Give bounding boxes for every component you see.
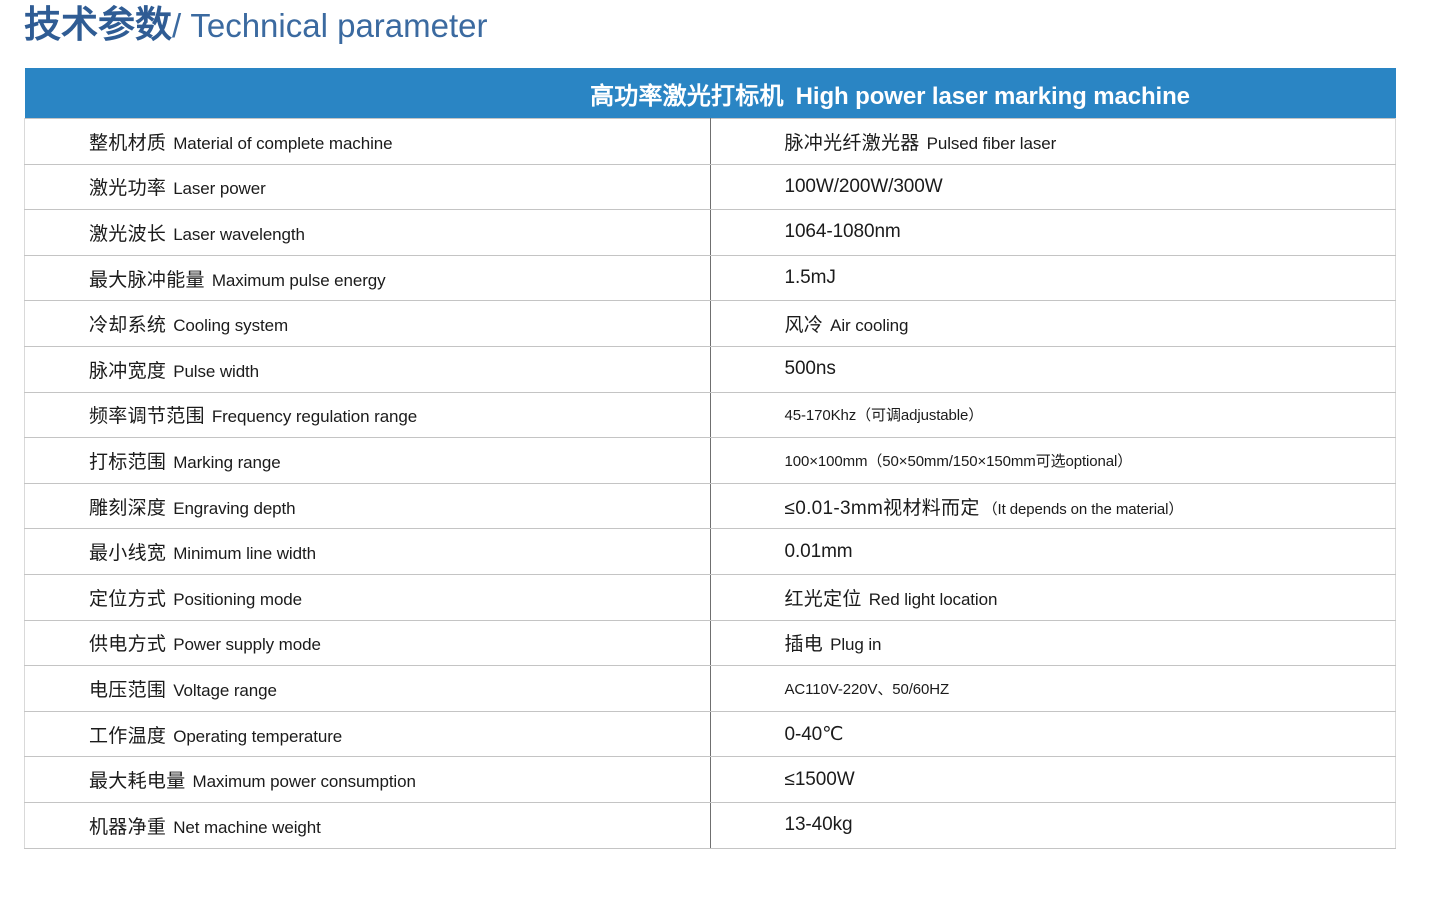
parameter-value-zh: 红光定位 [785,589,862,610]
parameter-label-cell: 频率调节范围Frequency regulation range [25,392,711,438]
parameter-label: 激光功率Laser power [25,173,710,200]
page-title-en: Technical parameter [190,7,487,44]
parameter-value-cell: 风冷Air cooling [710,301,1396,347]
parameter-label-cell: 供电方式Power supply mode [25,620,711,666]
parameter-label-cell: 最小线宽Minimum line width [25,529,711,575]
parameter-label-cell: 定位方式Positioning mode [25,574,711,620]
parameter-value-cell: ≤1500W [710,757,1396,803]
parameter-label-zh: 最小线宽 [89,543,166,564]
parameter-label-cell: 雕刻深度Engraving depth [25,483,711,529]
parameter-value: 1.5mJ [711,267,1396,289]
table-header-title-zh: 高功率激光打标机 [590,83,784,110]
parameter-label: 工作温度Operating temperature [25,721,710,748]
parameter-value-cell: 脉冲光纤激光器Pulsed fiber laser [710,119,1396,165]
parameter-value-cell: AC110V-220V、50/60HZ [710,666,1396,712]
parameter-value-cell: 插电Plug in [710,620,1396,666]
parameter-label-en: Pulse width [166,362,259,381]
parameter-value-text: 0.01mm [785,541,853,562]
parameter-value: 插电Plug in [711,629,1396,656]
parameter-value: 风冷Air cooling [711,310,1396,337]
parameter-value-text: ≤1500W [785,769,855,790]
parameter-label-cell: 激光波长Laser wavelength [25,210,711,256]
page-title-zh: 技术参数 [24,4,172,45]
table-body: 整机材质Material of complete machine脉冲光纤激光器P… [25,119,1396,849]
parameter-label-cell: 冷却系统Cooling system [25,301,711,347]
parameter-value: ≤1500W [711,769,1396,791]
parameter-label-en: Power supply mode [166,635,321,654]
table-row: 雕刻深度Engraving depth≤0.01-3mm视材料而定（It dep… [25,483,1396,529]
table-header-inner: 高功率激光打标机High power laser marking machine [25,76,1396,111]
parameter-label-cell: 最大脉冲能量Maximum pulse energy [25,255,711,301]
parameter-value-cell: 45-170Khz（可调adjustable） [710,392,1396,438]
parameter-label-en: Laser power [166,179,265,198]
table-row: 冷却系统Cooling system风冷Air cooling [25,301,1396,347]
parameter-label: 最小线宽Minimum line width [25,538,710,565]
parameter-label: 激光波长Laser wavelength [25,219,710,246]
parameter-value-cell: 0-40℃ [710,711,1396,757]
parameter-label-zh: 机器净重 [89,817,166,838]
parameter-value: 0-40℃ [711,723,1396,746]
parameter-label-zh: 供电方式 [89,634,166,655]
technical-parameter-table: 高功率激光打标机High power laser marking machine… [24,68,1396,849]
parameter-value: 1064-1080nm [711,221,1396,243]
parameter-value-text: 1064-1080nm [785,221,901,242]
parameter-label-zh: 打标范围 [89,452,166,473]
parameter-value-cell: 1.5mJ [710,255,1396,301]
parameter-label-en: Cooling system [166,316,288,335]
parameter-value: AC110V-220V、50/60HZ [711,678,1396,699]
parameter-label-zh: 最大脉冲能量 [89,270,205,291]
parameter-value-text: 500ns [785,358,836,379]
table-header-title-en: High power laser marking machine [784,83,1190,110]
parameter-label-zh: 冷却系统 [89,315,166,336]
table-row: 工作温度Operating temperature0-40℃ [25,711,1396,757]
table-row: 频率调节范围Frequency regulation range45-170Kh… [25,392,1396,438]
parameter-label-cell: 打标范围Marking range [25,438,711,484]
parameter-value-cell: ≤0.01-3mm视材料而定（It depends on the materia… [710,483,1396,529]
parameter-value-zh: 脉冲光纤激光器 [785,133,920,154]
parameter-value-zh: 风冷 [785,315,824,336]
parameter-value: 脉冲光纤激光器Pulsed fiber laser [711,128,1396,155]
parameter-value: 45-170Khz（可调adjustable） [711,404,1396,425]
parameter-label-zh: 雕刻深度 [89,498,166,519]
table-head: 高功率激光打标机High power laser marking machine [25,68,1396,119]
parameter-label: 机器净重Net machine weight [25,812,710,839]
parameter-label-en: Operating temperature [166,727,342,746]
parameter-label-cell: 电压范围Voltage range [25,666,711,712]
parameter-value-text: AC110V-220V、50/60HZ [785,681,950,698]
table-row: 激光波长Laser wavelength1064-1080nm [25,210,1396,256]
parameter-label-zh: 整机材质 [89,133,166,154]
parameter-value: 0.01mm [711,541,1396,563]
table-row: 脉冲宽度Pulse width500ns [25,346,1396,392]
table-row: 供电方式Power supply mode插电Plug in [25,620,1396,666]
parameter-label: 频率调节范围Frequency regulation range [25,401,710,428]
parameter-label: 打标范围Marking range [25,447,710,474]
parameter-label-zh: 频率调节范围 [89,406,205,427]
parameter-label: 冷却系统Cooling system [25,310,710,337]
parameter-label-zh: 激光功率 [89,178,166,199]
parameter-value-zh: 插电 [785,634,824,655]
parameter-value-cell: 100×100mm（50×50mm/150×150mm可选optional） [710,438,1396,484]
parameter-value-text: 100W/200W/300W [785,176,943,197]
parameter-label-en: Laser wavelength [166,225,305,244]
parameter-value: 100W/200W/300W [711,176,1396,198]
parameter-value: 100×100mm（50×50mm/150×150mm可选optional） [711,450,1396,471]
parameter-value: 500ns [711,358,1396,380]
page-title: 技术参数/ Technical parameter [24,6,488,43]
parameter-value: 红光定位Red light location [711,584,1396,611]
parameter-label-en: Net machine weight [166,818,321,837]
parameter-label-en: Maximum power consumption [186,772,416,791]
table-header-row: 高功率激光打标机High power laser marking machine [25,68,1396,119]
parameter-value: ≤0.01-3mm视材料而定（It depends on the materia… [711,493,1396,520]
table-row: 最大耗电量Maximum power consumption≤1500W [25,757,1396,803]
parameter-label: 最大脉冲能量Maximum pulse energy [25,265,710,292]
parameter-label-cell: 脉冲宽度Pulse width [25,346,711,392]
parameter-label-en: Positioning mode [166,590,302,609]
parameter-value-cell: 13-40kg [710,802,1396,848]
parameter-label-zh: 工作温度 [89,726,166,747]
parameter-value-zh: ≤0.01-3mm视材料而定 [785,498,980,519]
table-row: 打标范围Marking range100×100mm（50×50mm/150×1… [25,438,1396,484]
parameter-label-zh: 激光波长 [89,224,166,245]
table-row: 最小线宽Minimum line width0.01mm [25,529,1396,575]
parameter-label-en: Minimum line width [166,544,316,563]
parameter-value-en: （It depends on the material） [980,501,1184,518]
parameter-label-zh: 最大耗电量 [89,771,186,792]
parameter-label: 雕刻深度Engraving depth [25,493,710,520]
parameter-value-en: Pulsed fiber laser [920,134,1057,153]
parameter-value-cell: 红光定位Red light location [710,574,1396,620]
parameter-value-en: Air cooling [823,316,908,335]
parameter-value-cell: 100W/200W/300W [710,164,1396,210]
parameter-label-cell: 激光功率Laser power [25,164,711,210]
table-row: 整机材质Material of complete machine脉冲光纤激光器P… [25,119,1396,165]
table-row: 定位方式Positioning mode红光定位Red light locati… [25,574,1396,620]
parameter-label-zh: 定位方式 [89,589,166,610]
parameter-label-en: Maximum pulse energy [205,271,386,290]
parameter-value-en: Plug in [823,635,881,654]
parameter-value-text: 100×100mm（50×50mm/150×150mm可选optional） [785,453,1133,470]
parameter-label-cell: 最大耗电量Maximum power consumption [25,757,711,803]
parameter-value-text: 13-40kg [785,814,853,835]
parameter-value: 13-40kg [711,814,1396,836]
parameter-label: 定位方式Positioning mode [25,584,710,611]
table-row: 激光功率Laser power100W/200W/300W [25,164,1396,210]
parameter-value-cell: 1064-1080nm [710,210,1396,256]
parameter-value-text: 1.5mJ [785,267,836,288]
table-header-cell: 高功率激光打标机High power laser marking machine [25,68,1396,119]
parameter-value-en: Red light location [862,590,998,609]
parameter-value-cell: 500ns [710,346,1396,392]
parameter-label-en: Voltage range [166,681,277,700]
table-row: 电压范围Voltage rangeAC110V-220V、50/60HZ [25,666,1396,712]
parameter-label: 供电方式Power supply mode [25,629,710,656]
parameter-label: 电压范围Voltage range [25,675,710,702]
parameter-label: 最大耗电量Maximum power consumption [25,766,710,793]
parameter-label-cell: 整机材质Material of complete machine [25,119,711,165]
parameter-label-zh: 脉冲宽度 [89,361,166,382]
page-title-separator: / [172,7,190,44]
parameter-label: 脉冲宽度Pulse width [25,356,710,383]
parameter-label-en: Marking range [166,453,280,472]
parameter-label-cell: 工作温度Operating temperature [25,711,711,757]
parameter-value-text: 45-170Khz（可调adjustable） [785,407,984,424]
parameter-label-cell: 机器净重Net machine weight [25,802,711,848]
parameter-label: 整机材质Material of complete machine [25,128,710,155]
parameter-label-zh: 电压范围 [89,680,166,701]
table-row: 机器净重Net machine weight13-40kg [25,802,1396,848]
parameter-label-en: Material of complete machine [166,134,392,153]
parameter-value-text: 0-40℃ [785,724,844,745]
parameter-value-cell: 0.01mm [710,529,1396,575]
parameter-label-en: Frequency regulation range [205,407,417,426]
parameter-label-en: Engraving depth [166,499,295,518]
table-row: 最大脉冲能量Maximum pulse energy1.5mJ [25,255,1396,301]
